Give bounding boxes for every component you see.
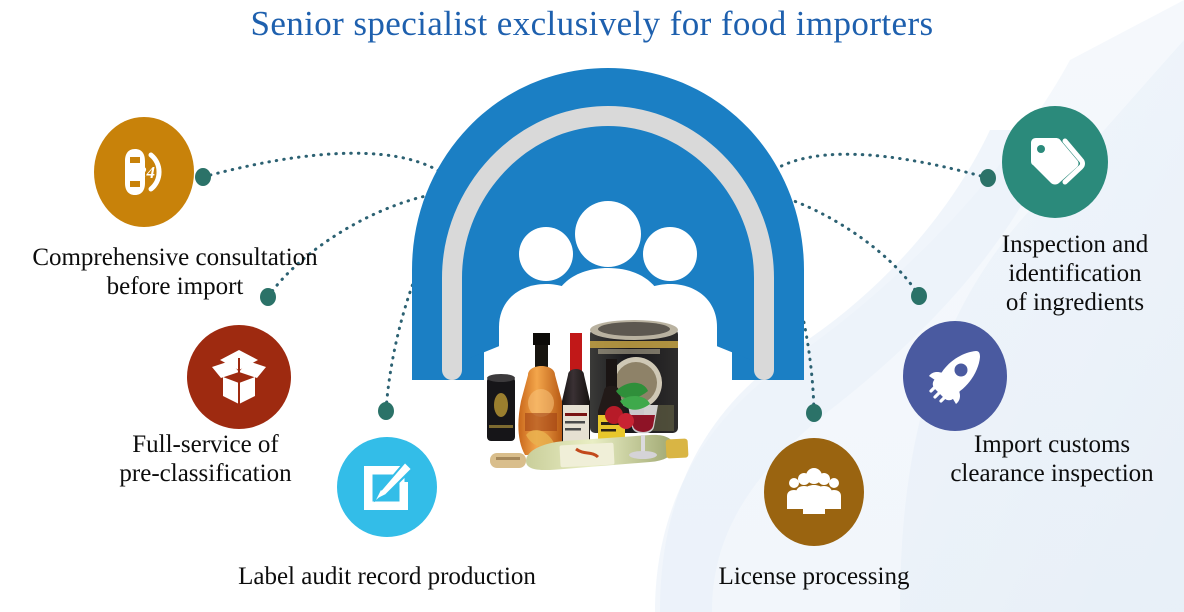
caption-pre-classification: Full-service of pre-classification [83,430,328,488]
open-box-icon [208,348,270,406]
node-license-processing[interactable] [764,438,864,546]
price-tag-icon [1025,133,1085,191]
beverage-can [487,374,515,441]
infographic-canvas: Senior specialist exclusively for food i… [0,0,1184,612]
node-pre-classification[interactable] [187,325,291,429]
wine-cork [490,453,526,468]
node-label-audit[interactable] [337,437,437,537]
caption-consultation: Comprehensive consultation before import [0,243,350,301]
caption-license-processing: License processing [694,562,934,591]
cognac-bottle [518,333,564,455]
node-ingredients-inspection[interactable] [1002,106,1108,218]
edit-square-pencil-icon [358,458,416,516]
red-wine-bottle-1 [562,333,590,457]
node-consultation[interactable]: 24 [94,117,194,227]
node-customs-clearance[interactable] [903,321,1007,431]
caption-ingredients-inspection: Inspection and identification of ingredi… [966,230,1184,317]
rocket-icon [926,347,984,405]
caption-customs-clearance: Import customs clearance inspection [920,430,1184,488]
badge-24h: 24 [138,163,155,183]
imported-products-photo [478,305,706,490]
caption-label-audit: Label audit record production [207,562,567,591]
people-group-icon [785,467,843,517]
